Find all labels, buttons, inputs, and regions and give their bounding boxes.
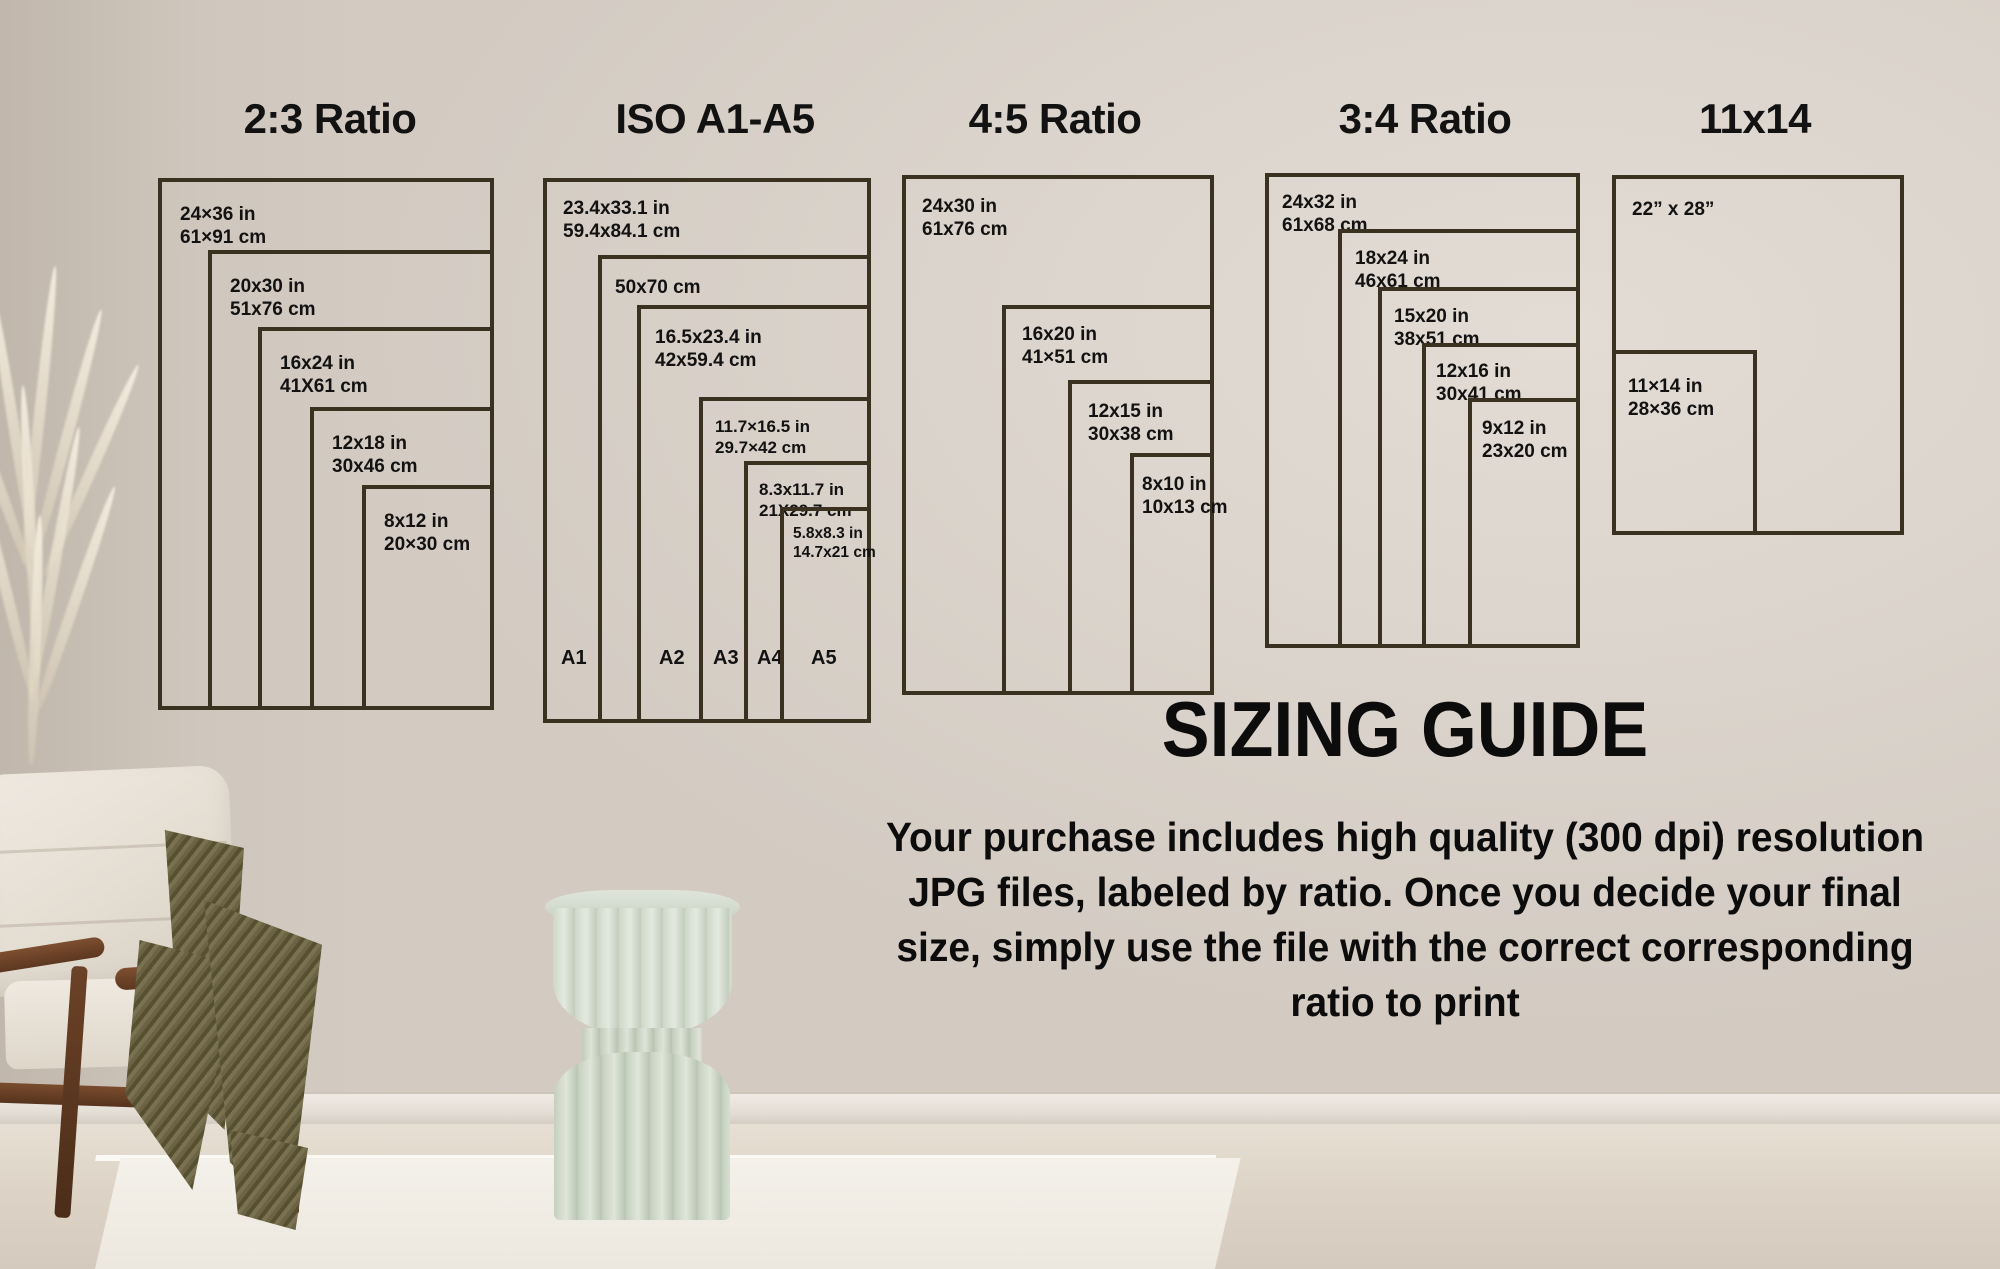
frame-label-20x30: 20x30 in 51x76 cm — [230, 275, 316, 321]
frame-label-a1: 23.4x33.1 in 59.4x84.1 cm — [563, 197, 680, 243]
sizing-guide-title: SIZING GUIDE — [885, 690, 1925, 768]
group-ratio-2-3: 2:3 Ratio 24×36 in 61×91 cm 20x30 in 51x… — [150, 95, 510, 715]
frame-label-22x28: 22” x 28” — [1632, 198, 1714, 221]
frame-label-16x24: 16x24 in 41X61 cm — [280, 352, 368, 398]
frame-label-12x18: 12x18 in 30x46 cm — [332, 432, 418, 478]
iso-tag-a1: A1 — [561, 647, 587, 670]
group-ratio-4-5: 4:5 Ratio 24x30 in 61x76 cm 16x20 in 41×… — [890, 95, 1220, 715]
group-title-11x14: 11x14 — [1590, 95, 1920, 143]
group-11x14: 11x14 22” x 28” 11×14 in 28×36 cm — [1590, 95, 1920, 715]
frame-label-16x20: 16x20 in 41×51 cm — [1022, 323, 1108, 369]
frame-label-8x10: 8x10 in 10x13 cm — [1142, 473, 1228, 519]
group-title-ratio-3-4: 3:4 Ratio — [1260, 95, 1590, 143]
sizing-guide-callout: SIZING GUIDE Your purchase includes high… — [840, 690, 1970, 1030]
group-ratio-3-4: 3:4 Ratio 24x32 in 61x68 cm 18x24 in 46x… — [1260, 95, 1590, 715]
frame-label-11x14: 11×14 in 28×36 cm — [1628, 375, 1714, 421]
iso-tag-a3: A3 — [713, 647, 739, 670]
frame-label-9x12: 9x12 in 23x20 cm — [1482, 417, 1568, 463]
sizing-chart-overlay: 2:3 Ratio 24×36 in 61×91 cm 20x30 in 51x… — [0, 0, 2000, 1269]
iso-tag-a4: A4 — [757, 647, 783, 670]
frame-label-12x15: 12x15 in 30x38 cm — [1088, 400, 1174, 446]
frame-label-a5: 5.8x8.3 in 14.7x21 cm — [793, 525, 876, 563]
group-title-iso: ISO A1-A5 — [535, 95, 895, 143]
group-title-ratio-2-3: 2:3 Ratio — [150, 95, 510, 143]
sizing-guide-body: Your purchase includes high quality (300… — [868, 810, 1942, 1030]
frame-label-24x36: 24×36 in 61×91 cm — [180, 203, 266, 249]
group-iso-a1-a5: ISO A1-A5 23.4x33.1 in 59.4x84.1 cm A1 5… — [535, 95, 895, 655]
sizing-guide-scene: 2:3 Ratio 24×36 in 61×91 cm 20x30 in 51x… — [0, 0, 2000, 1269]
frame-label-a2: 16.5x23.4 in 42x59.4 cm — [655, 326, 762, 372]
frame-label-50x70: 50x70 cm — [615, 276, 701, 299]
frame-label-8x12: 8x12 in 20×30 cm — [384, 510, 470, 556]
group-title-ratio-4-5: 4:5 Ratio — [890, 95, 1220, 143]
frame-label-24x30: 24x30 in 61x76 cm — [922, 195, 1008, 241]
iso-tag-a5: A5 — [811, 647, 837, 670]
frame-label-a3: 11.7×16.5 in 29.7×42 cm — [715, 417, 810, 458]
iso-tag-a2: A2 — [659, 647, 685, 670]
